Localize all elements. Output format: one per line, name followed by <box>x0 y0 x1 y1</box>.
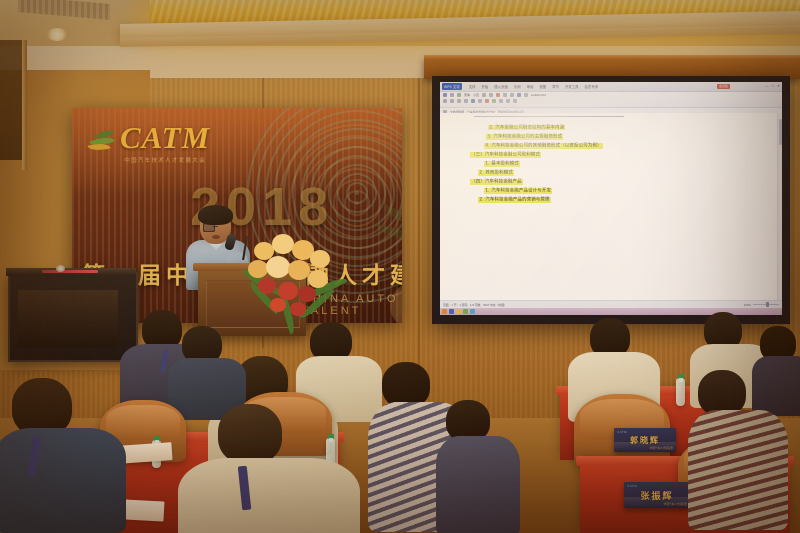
doc-line-text: 4. 汽车科技金融公司的其他融资形式（以资标公司为例） <box>484 143 603 149</box>
status-bar: 页面：1 节：1 页码：1/3 字数：2007 中文（中国） 100% <box>440 300 782 308</box>
zoom-slider[interactable] <box>753 304 779 306</box>
doc-line-text: 1. 基本盈利模式 <box>484 161 520 167</box>
speaker-mouth <box>212 235 220 239</box>
doc-line: （三）汽车科技金融公司盈利模式 <box>440 151 782 157</box>
minimize-icon[interactable]: — <box>765 84 769 88</box>
bottle-neck <box>329 438 333 442</box>
flower-petal <box>310 250 330 268</box>
select-icon[interactable] <box>513 99 517 103</box>
flower-petal <box>248 260 268 278</box>
browser-icon[interactable] <box>442 309 447 314</box>
doc-line-text: （三）汽车科技金融公司盈利模式 <box>470 152 541 158</box>
wps-writer-icon[interactable] <box>449 309 454 314</box>
menu-item-7[interactable]: 开发工具 <box>565 84 579 89</box>
media-player-icon[interactable] <box>463 309 468 314</box>
vertical-scrollbar[interactable] <box>777 113 782 301</box>
flower-petal <box>290 302 306 316</box>
catm-wordmark: CATM <box>120 120 210 155</box>
doc-line-text: 1. 汽车科技金融产品设计与开发 <box>484 188 552 194</box>
doc-line-text: （四）汽车科技金融产品 <box>470 179 523 185</box>
status-text: 页面：1 节：1 页码：1/3 字数：2007 中文（中国） <box>443 303 507 307</box>
zoom-control[interactable]: 100% <box>744 303 779 307</box>
name-placard: CATM 张振辉 中国汽车人才研究会 <box>624 482 690 508</box>
wall-seam-right <box>418 78 420 378</box>
zoom-level-label: 100% <box>744 303 751 307</box>
document-rule-line <box>474 116 624 117</box>
flower-petal <box>308 270 328 288</box>
attendee-head <box>218 404 282 464</box>
attendee-body <box>0 428 126 533</box>
wps-writer-window: WPS 文字 文件 开始 插入页面 引用 审阅 视图 章节 开发工具 会员专享 … <box>440 82 782 315</box>
font-size-field[interactable]: 小四 <box>473 93 479 97</box>
doc-line: 2. 汽车金融公司融资结构的基本内涵 <box>440 124 782 130</box>
placard-reflection <box>624 497 690 508</box>
bullets-icon[interactable] <box>503 93 507 97</box>
shading-icon[interactable] <box>492 99 496 103</box>
folder-icon[interactable] <box>456 309 461 314</box>
attendee-body <box>688 410 788 530</box>
doc-line: 2. 其他盈利模式 <box>440 170 782 176</box>
maximize-icon[interactable]: □ <box>772 84 774 88</box>
name-placard: CATM 郭晓辉 中国汽车人才研究会 <box>614 428 676 452</box>
wps-ribbon: 宋体 小四 AaBbCcDd <box>440 92 782 108</box>
window-controls[interactable]: — □ ✕ <box>765 84 780 88</box>
doc-line: 2. 汽车科技金融产品的营销与管理 <box>440 197 782 203</box>
find-replace-icon[interactable] <box>506 99 510 103</box>
attendee-body <box>752 356 800 416</box>
font-color-icon[interactable] <box>485 99 489 103</box>
menu-item-4[interactable]: 审阅 <box>527 84 534 89</box>
highlight-icon[interactable] <box>496 93 500 97</box>
shrink-font-icon[interactable] <box>489 93 493 97</box>
doc-line: 3. 汽车科技金融公司的主要融资形式 <box>440 133 782 139</box>
paste-icon[interactable] <box>443 93 447 97</box>
wps-menu-bar[interactable]: 文件 开始 插入页面 引用 审阅 视图 章节 开发工具 会员专享 <box>469 84 598 89</box>
av-rack-interior <box>18 290 118 348</box>
superscript-icon[interactable] <box>478 99 482 103</box>
zoom-slider-knob[interactable] <box>766 302 769 307</box>
catm-logo: CATM 中国汽车技术人才发展大会 <box>88 122 210 164</box>
attendee-body <box>178 458 360 533</box>
flower-petal <box>272 234 294 254</box>
attendee-body <box>436 436 520 533</box>
menu-item-6[interactable]: 章节 <box>552 84 559 89</box>
menu-item-8[interactable]: 会员专享 <box>585 84 599 89</box>
bold-icon[interactable] <box>443 99 447 103</box>
doc-line: 4. 汽车科技金融公司的其他融资形式（以资标公司为例） <box>440 142 782 148</box>
speaker-hair <box>198 205 233 225</box>
borders-icon[interactable] <box>499 99 503 103</box>
line-spacing-icon[interactable] <box>524 93 528 97</box>
flower-petal <box>270 298 286 312</box>
flower-petal <box>258 278 276 294</box>
recessed-downlight <box>46 28 68 41</box>
conference-hall-photo: CATM 中国汽车技术人才发展大会 2018 第一届中国汽车金融人才建设大会 C… <box>0 0 800 533</box>
cut-icon[interactable] <box>457 93 461 97</box>
doc-line-text: 2. 其他盈利模式 <box>478 170 514 176</box>
placard-org: CATM <box>617 430 627 434</box>
chat-icon[interactable] <box>470 309 475 314</box>
wps-title-bar: WPS 文字 文件 开始 插入页面 引用 审阅 视图 章节 开发工具 会员专享 … <box>440 82 782 92</box>
document-outline: 2. 汽车金融公司融资结构的基本内涵 3. 汽车科技金融公司的主要融资形式 4.… <box>440 121 782 206</box>
style-gallery-label[interactable]: AaBbCcDd <box>531 93 546 97</box>
doc-line: 1. 基本盈利模式 <box>440 160 782 166</box>
placard-org: CATM <box>627 484 637 488</box>
italic-icon[interactable] <box>450 99 454 103</box>
doc-line-text: 3. 汽车科技金融公司的主要融资形式 <box>486 134 563 140</box>
doc-line: 1. 汽车科技金融产品设计与开发 <box>440 188 782 194</box>
door-frame-edge <box>22 40 27 170</box>
doc-line-text: 2. 汽车金融公司融资结构的基本内涵 <box>488 125 565 131</box>
grow-font-icon[interactable] <box>482 93 486 97</box>
av-rack-led-strip <box>42 270 98 273</box>
av-rack-knob <box>56 265 65 272</box>
floral-arrangement <box>248 232 340 324</box>
placard-reflection <box>614 442 676 452</box>
flower-petal <box>298 286 316 302</box>
menu-item-3[interactable]: 引用 <box>514 84 521 89</box>
doc-line: （四）汽车科技金融产品 <box>440 179 782 185</box>
numbering-icon[interactable] <box>510 93 514 97</box>
doc-line-text: 2. 汽车科技金融产品的营销与管理 <box>478 197 551 203</box>
document-page[interactable]: 2. 汽车金融公司融资结构的基本内涵 3. 汽车科技金融公司的主要融资形式 4.… <box>440 113 782 301</box>
flower-petal <box>278 282 298 300</box>
menu-item-2[interactable]: 插入页面 <box>494 84 508 89</box>
align-left-icon[interactable] <box>517 93 521 97</box>
menu-item-5[interactable]: 视图 <box>539 84 546 89</box>
font-name-field[interactable]: 宋体 <box>464 93 470 97</box>
member-badge[interactable]: 会员版 <box>717 84 730 89</box>
strikethrough-icon[interactable] <box>464 99 468 103</box>
screen-valance-lip <box>424 55 800 59</box>
catm-subtext: 中国汽车技术人才发展大会 <box>120 156 210 164</box>
water-bottle <box>676 378 685 406</box>
menu-item-0[interactable]: 文件 <box>469 84 476 89</box>
leaf-icon <box>88 127 118 161</box>
underline-icon[interactable] <box>457 99 461 103</box>
bottle-neck <box>679 378 683 382</box>
close-icon[interactable]: ✕ <box>777 84 780 88</box>
scrollbar-thumb[interactable] <box>779 119 782 145</box>
ribbon-row-bottom[interactable] <box>440 98 782 104</box>
projection-screen: WPS 文字 文件 开始 插入页面 引用 审阅 视图 章节 开发工具 会员专享 … <box>440 82 782 315</box>
wps-logo-icon: WPS 文字 <box>442 83 462 90</box>
flower-petal <box>266 256 290 278</box>
format-painter-icon[interactable] <box>450 93 454 97</box>
menu-item-1[interactable]: 开始 <box>482 84 489 89</box>
flower-petal <box>288 260 310 280</box>
subscript-icon[interactable] <box>471 99 475 103</box>
